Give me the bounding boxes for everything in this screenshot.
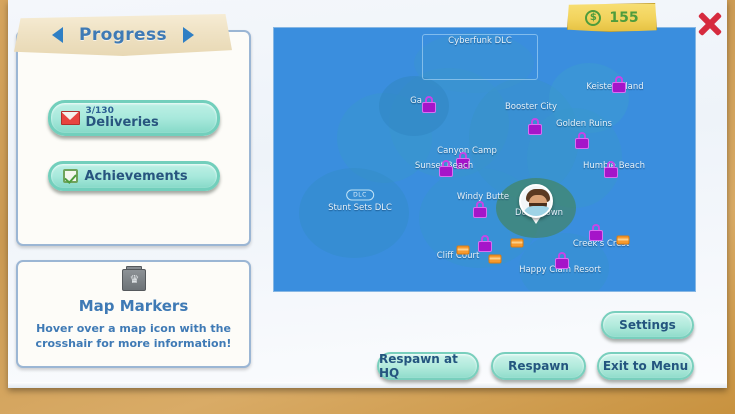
locked-location-icon[interactable] (439, 165, 453, 177)
delivery-marker-icon[interactable] (457, 246, 470, 255)
locked-location-icon[interactable] (612, 81, 626, 93)
page-title: Progress (79, 25, 167, 45)
deliveries-text: 3/130 Deliveries (86, 107, 159, 129)
exit-to-menu-button[interactable]: Exit to Menu (597, 352, 694, 380)
locked-location-icon[interactable] (528, 123, 542, 135)
settings-button[interactable]: Settings (601, 311, 694, 339)
envelope-icon (61, 111, 80, 125)
currency-amount: 155 (609, 10, 638, 26)
player-avatar[interactable] (519, 184, 553, 218)
delivery-marker-icon[interactable] (489, 255, 502, 264)
currency-badge: $ 155 (567, 3, 657, 32)
delivery-marker-icon[interactable] (511, 239, 524, 248)
sidebar: Progress 3/130 Deliveries Achievements ♛ (16, 30, 251, 368)
pause-menu-screen: Progress 3/130 Deliveries Achievements ♛ (0, 0, 735, 414)
prev-page-arrow-icon[interactable] (52, 27, 63, 43)
locked-location-icon[interactable] (473, 206, 487, 218)
locked-location-icon[interactable] (478, 240, 492, 252)
close-x-icon[interactable] (694, 9, 724, 39)
delivery-marker-icon[interactable] (617, 236, 630, 245)
achievements-button[interactable]: Achievements (48, 161, 220, 191)
progress-header-tape: Progress (14, 14, 232, 56)
progress-panel: Progress 3/130 Deliveries Achievements (16, 30, 251, 246)
map-markers-panel: ♛ Map Markers Hover over a map icon with… (16, 260, 251, 368)
locked-location-icon[interactable] (604, 166, 618, 178)
deliveries-button[interactable]: 3/130 Deliveries (48, 100, 220, 136)
respawn-button[interactable]: Respawn (491, 352, 586, 380)
map-markers-title: Map Markers (79, 297, 189, 315)
locked-location-icon[interactable] (456, 157, 470, 169)
coin-icon: $ (585, 10, 601, 26)
locked-location-icon[interactable] (575, 137, 589, 149)
achievements-label: Achievements (85, 169, 188, 184)
dlc-badge: DLC (346, 190, 374, 201)
respawn-at-hq-button[interactable]: Respawn at HQ (377, 352, 479, 380)
world-map[interactable]: Cyberfunk DLCGaBooster CityKeister Islan… (273, 27, 696, 292)
locked-location-icon[interactable] (422, 101, 436, 113)
locked-location-icon[interactable] (555, 257, 569, 269)
map-markers-description: Hover over a map icon with the crosshair… (28, 322, 239, 352)
map-island (299, 168, 409, 258)
locked-location-icon[interactable] (589, 229, 603, 241)
cyberfunk-dlc-region[interactable] (422, 34, 538, 80)
map-island (379, 76, 449, 136)
next-page-arrow-icon[interactable] (183, 27, 194, 43)
deliveries-label: Deliveries (86, 116, 159, 129)
checkbox-icon (63, 169, 78, 183)
trophy-case-icon: ♛ (122, 269, 146, 291)
